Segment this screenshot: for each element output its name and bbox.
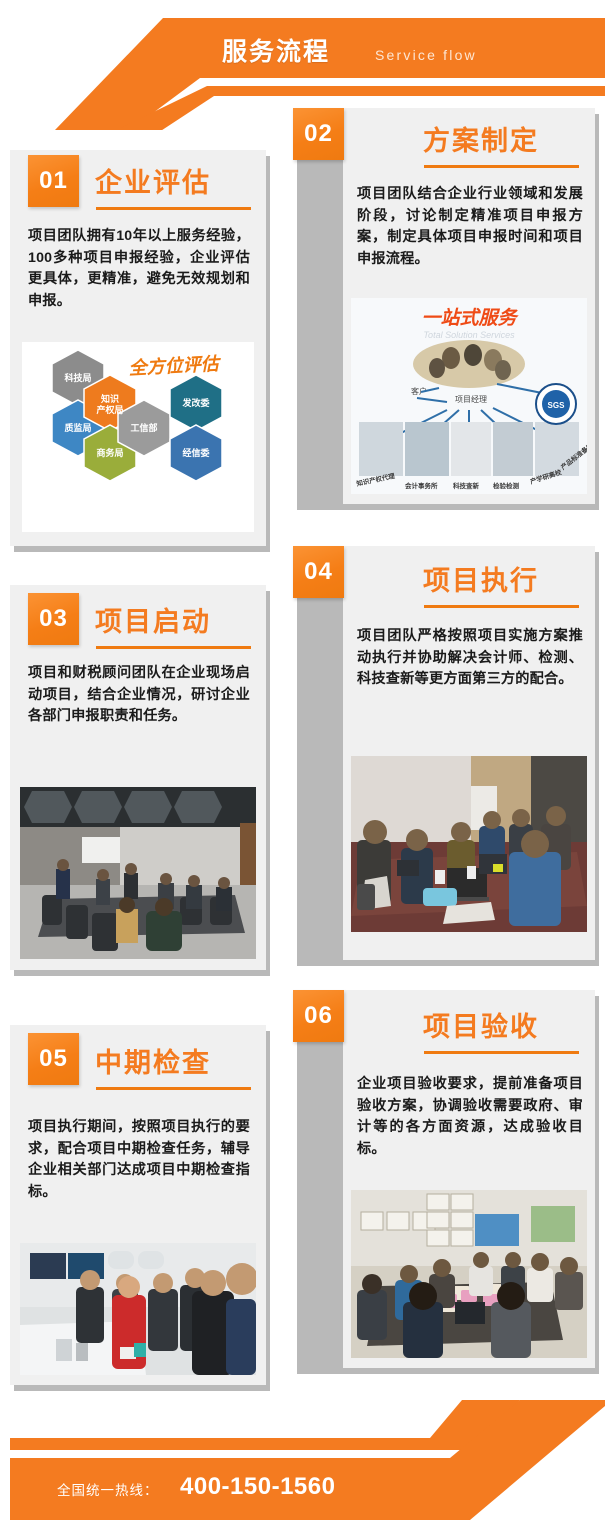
- card-02-image: 一站式服务 Total Solution Services 客户 项目经理: [351, 298, 587, 494]
- card-06-body: 企业项目验收要求，提前准备项目验收方案，协调验收需要政府、审计等的各方面资源，达…: [343, 990, 595, 1368]
- card-02-text: 项目团队结合企业行业领域和发展阶段，讨论制定精准项目申报方案，制定具体项目申报时…: [357, 184, 583, 270]
- footer-hotline-label: 全国统一热线：: [57, 1484, 159, 1498]
- svg-text:工信部: 工信部: [130, 422, 157, 433]
- card-06-text: 企业项目验收要求，提前准备项目验收方案，协调验收需要政府、审计等的各方面资源，达…: [357, 1074, 583, 1160]
- card-05-image: [20, 1243, 256, 1375]
- svg-text:检验检测: 检验检测: [493, 481, 520, 490]
- svg-text:一站式服务: 一站式服务: [421, 307, 519, 329]
- svg-text:SGS: SGS: [548, 401, 566, 410]
- svg-text:经信委: 经信委: [182, 447, 210, 458]
- header-banner: 服务流程 Service flow: [0, 0, 605, 120]
- card-05-title: 中期检查: [95, 1050, 211, 1077]
- service-flow-infographic: 服务流程 Service flow 项目团队拥有10年以上服务经验，100多种项…: [0, 0, 605, 1538]
- svg-text:Total Solution Services: Total Solution Services: [423, 330, 515, 340]
- card-06-title-rule: [424, 1051, 579, 1054]
- footer-banner: [0, 1400, 605, 1538]
- card-02-title: 方案制定: [423, 128, 539, 155]
- svg-text:产权局: 产权局: [96, 404, 123, 415]
- footer-hotline-number: 400-150-1560: [180, 1475, 335, 1499]
- card-04-title: 项目执行: [423, 568, 539, 595]
- card-02-title-rule: [424, 165, 579, 168]
- header-subtitle: Service flow: [375, 48, 477, 62]
- card-02-badge: 02: [293, 108, 344, 160]
- card-01-badge: 01: [28, 155, 79, 207]
- footer-orange-band-shape: [0, 1400, 605, 1538]
- card-04-image: [351, 756, 587, 932]
- card-06-title: 项目验收: [423, 1014, 539, 1041]
- card-05: 项目执行期间，按照项目执行的要求，配合项目中期检查任务，辅导企业相关部门达成项目…: [10, 1025, 266, 1385]
- card-03-badge: 03: [28, 593, 79, 645]
- svg-text:发改委: 发改委: [181, 397, 210, 408]
- card-06: 企业项目验收要求，提前准备项目验收方案，协调验收需要政府、审计等的各方面资源，达…: [293, 990, 595, 1368]
- svg-text:质监局: 质监局: [64, 422, 91, 433]
- card-06-image: [351, 1190, 587, 1358]
- svg-text:知识: 知识: [100, 393, 119, 404]
- card-04-text: 项目团队严格按照项目实施方案推动执行并协助解决会计师、检测、科技查新等更方面第三…: [357, 626, 583, 691]
- card-01-image: 科技局 质监局 知识 产权局 商务局 工信部 发改委 经信委 全方位评估: [22, 342, 254, 532]
- svg-text:商务局: 商务局: [96, 447, 123, 458]
- card-06-badge: 06: [293, 990, 344, 1042]
- svg-text:科技局: 科技局: [64, 372, 91, 383]
- card-04-body: 项目团队严格按照项目实施方案推动执行并协助解决会计师、检测、科技查新等更方面第三…: [343, 546, 595, 960]
- card-04-badge: 04: [293, 546, 344, 598]
- card-01-title-rule: [96, 207, 251, 210]
- svg-text:项目经理: 项目经理: [455, 394, 487, 404]
- card-04: 项目团队严格按照项目实施方案推动执行并协助解决会计师、检测、科技查新等更方面第三…: [293, 546, 595, 960]
- card-03: 项目和财税顾问团队在企业现场启动项目，结合企业情况，研讨企业各部门申报职责和任务…: [10, 585, 266, 970]
- header-title: 服务流程: [222, 40, 330, 65]
- card-04-title-rule: [424, 605, 579, 608]
- svg-text:会计事务所: 会计事务所: [405, 481, 438, 490]
- card-03-title-rule: [96, 646, 251, 649]
- svg-text:科技查新: 科技查新: [453, 481, 480, 490]
- card-01: 项目团队拥有10年以上服务经验，100多种项目申报经验，企业评估更具体，更精准，…: [10, 150, 266, 546]
- card-03-title: 项目启动: [95, 609, 211, 636]
- card-01-title: 企业评估: [95, 170, 211, 197]
- card-02: 项目团队结合企业行业领域和发展阶段，讨论制定精准项目申报方案，制定具体项目申报时…: [293, 108, 595, 504]
- card-05-title-rule: [96, 1087, 251, 1090]
- card-03-text: 项目和财税顾问团队在企业现场启动项目，结合企业情况，研讨企业各部门申报职责和任务…: [28, 663, 250, 728]
- card-05-text: 项目执行期间，按照项目执行的要求，配合项目中期检查任务，辅导企业相关部门达成项目…: [28, 1117, 250, 1203]
- card-01-text: 项目团队拥有10年以上服务经验，100多种项目申报经验，企业评估更具体，更精准，…: [28, 226, 250, 312]
- card-05-badge: 05: [28, 1033, 79, 1085]
- card-03-image: [20, 787, 256, 959]
